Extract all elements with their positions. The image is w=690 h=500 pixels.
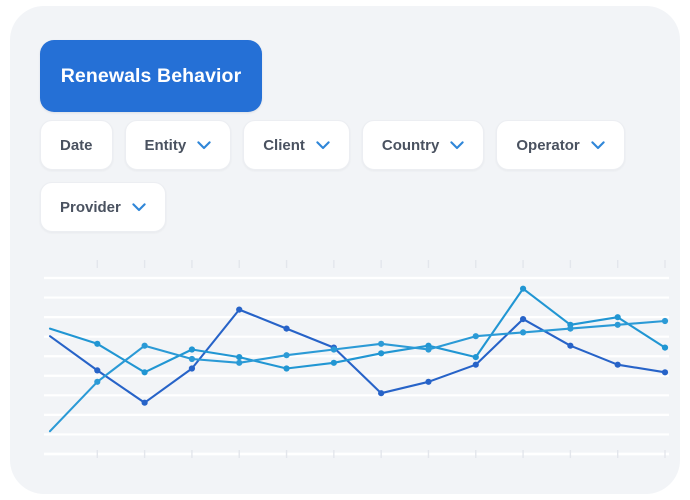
renewals-behavior-card: Renewals Behavior Date Entity Client Cou… bbox=[10, 6, 680, 494]
renewals-behavior-header-button[interactable]: Renewals Behavior bbox=[40, 40, 262, 112]
renewals-line-chart bbox=[10, 254, 680, 494]
filter-provider[interactable]: Provider bbox=[40, 182, 166, 232]
filter-date[interactable]: Date bbox=[40, 120, 113, 170]
x-axis-ticks-top bbox=[97, 260, 665, 268]
filter-country[interactable]: Country bbox=[362, 120, 485, 170]
filter-operator-label: Operator bbox=[516, 137, 579, 154]
page-title: Renewals Behavior bbox=[61, 65, 242, 88]
chart-series-group bbox=[50, 286, 668, 432]
chevron-down-icon bbox=[591, 141, 605, 150]
filter-entity-label: Entity bbox=[145, 137, 187, 154]
filter-client-label: Client bbox=[263, 137, 305, 154]
filter-country-label: Country bbox=[382, 137, 440, 154]
filter-provider-label: Provider bbox=[60, 199, 121, 216]
filter-operator[interactable]: Operator bbox=[496, 120, 624, 170]
chevron-down-icon bbox=[316, 141, 330, 150]
filter-client[interactable]: Client bbox=[243, 120, 350, 170]
filter-entity[interactable]: Entity bbox=[125, 120, 232, 170]
filter-bar: Date Entity Client Country bbox=[40, 120, 655, 232]
line-chart-svg bbox=[10, 254, 680, 494]
app-root: Renewals Behavior Date Entity Client Cou… bbox=[0, 0, 690, 500]
chevron-down-icon bbox=[197, 141, 211, 150]
horizontal-gridlines bbox=[44, 278, 669, 454]
chevron-down-icon bbox=[450, 141, 464, 150]
filter-date-label: Date bbox=[60, 137, 93, 154]
chevron-down-icon bbox=[132, 203, 146, 212]
